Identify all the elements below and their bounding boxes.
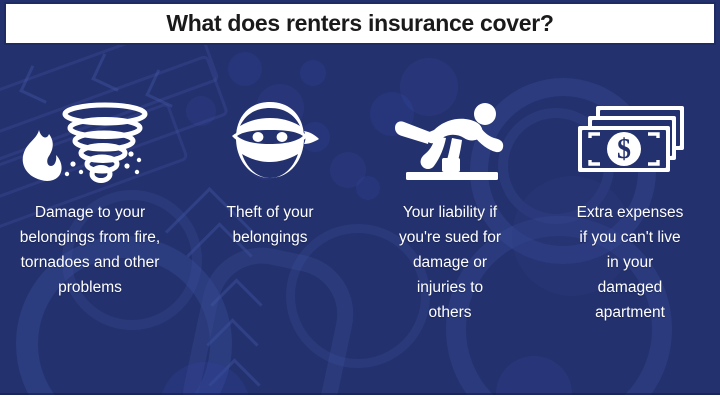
burglar-mask-icon [180,98,360,184]
benefit-column-extra-expenses: $ Extra expenses if you can't live in yo… [540,50,720,395]
slip-and-fall-icon [360,98,540,184]
header-banner: What does renters insurance cover? [4,2,716,45]
renters-insurance-infographic: What does renters insurance cover? [0,0,720,410]
svg-text:$: $ [617,134,631,165]
fire-tornado-icon [0,98,180,184]
bottom-white-strip [0,395,720,410]
benefit-column-theft: Theft of your belongings [180,50,360,395]
benefit-text: Extra expenses if you can't live in your… [577,200,684,326]
benefit-text: Your liability if you're sued for damage… [399,200,501,326]
page-title: What does renters insurance cover? [166,10,553,37]
cash-bills-icon: $ [540,98,720,184]
benefit-text: Theft of your belongings [226,200,313,250]
benefit-text: Damage to your belongings from fire, tor… [20,200,160,300]
benefit-column-fire-tornado: Damage to your belongings from fire, tor… [0,50,180,395]
benefit-column-liability: Your liability if you're sued for damage… [360,50,540,395]
benefit-columns: Damage to your belongings from fire, tor… [0,50,720,395]
